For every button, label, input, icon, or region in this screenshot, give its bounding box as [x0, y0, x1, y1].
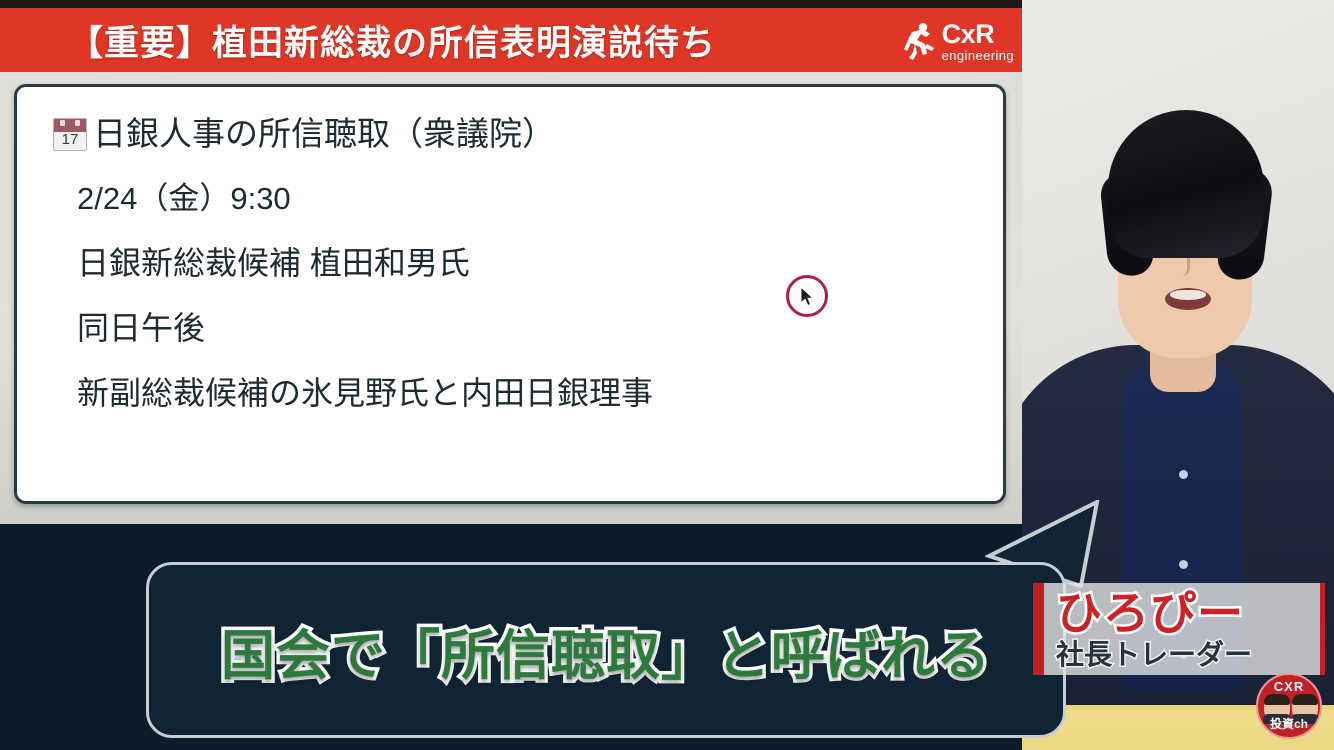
card-line-3: 日銀新総裁候補 植田和男氏: [77, 245, 973, 282]
slide-top-edge: [0, 0, 1022, 8]
card-line-1: 17 日銀人事の所信聴取（衆議院）: [53, 115, 973, 153]
presenter-hair: [1108, 110, 1264, 258]
presenter-shirt-button: [1179, 560, 1188, 569]
card-line-4: 同日午後: [77, 310, 973, 347]
presenter-shirt-button: [1179, 470, 1188, 479]
cxr-logo: CxR engineering: [903, 20, 1014, 62]
channel-badge: CXR 投資ch: [1256, 673, 1322, 739]
channel-badge-title: CXR: [1258, 679, 1320, 694]
presenter-role: 社長トレーダー: [1056, 641, 1320, 669]
calendar-icon: 17: [53, 118, 87, 151]
mouse-cursor-icon: [800, 286, 816, 308]
card-line-5: 新副総裁候補の氷見野氏と内田日銀理事: [77, 375, 973, 412]
avatar-hair: [1264, 694, 1290, 705]
presenter-name: ひろぴー: [1056, 590, 1320, 636]
card-line-2: 2/24（金）9:30: [77, 181, 973, 217]
slide-content-card: 17 日銀人事の所信聴取（衆議院） 2/24（金）9:30 日銀新総裁候補 植田…: [14, 84, 1006, 504]
slide-area: 【重要】植田新総裁の所信表明演説待ち CxR engineering: [0, 0, 1022, 524]
card-line-1-text: 日銀人事の所信聴取（衆議院）: [93, 115, 555, 153]
page-title: 【重要】植田新総裁の所信表明演説待ち: [68, 15, 716, 66]
subtitle-panel: 国会で「所信聴取」と呼ばれる: [146, 562, 1066, 738]
slide-header: 【重要】植田新総裁の所信表明演説待ち CxR engineering: [0, 8, 1022, 72]
calendar-icon-ring: [60, 120, 65, 126]
calendar-icon-day: 17: [54, 130, 86, 149]
avatar-hair: [1292, 694, 1318, 705]
video-frame: 【重要】植田新総裁の所信表明演説待ち CxR engineering: [0, 0, 1334, 750]
presenter-teeth: [1170, 290, 1206, 300]
logo-wordmark: CxR engineering: [942, 21, 1014, 62]
subtitle-text: 国会で「所信聴取」と呼ばれる: [221, 611, 991, 690]
calendar-icon-ring: [75, 120, 80, 126]
channel-badge-subtitle: 投資ch: [1258, 715, 1320, 732]
logo-subtitle: engineering: [942, 49, 1014, 62]
running-figure-icon: [903, 20, 937, 62]
logo-name: CxR: [942, 21, 1014, 48]
presenter-nameplate: ひろぴー 社長トレーダー: [1033, 583, 1325, 675]
